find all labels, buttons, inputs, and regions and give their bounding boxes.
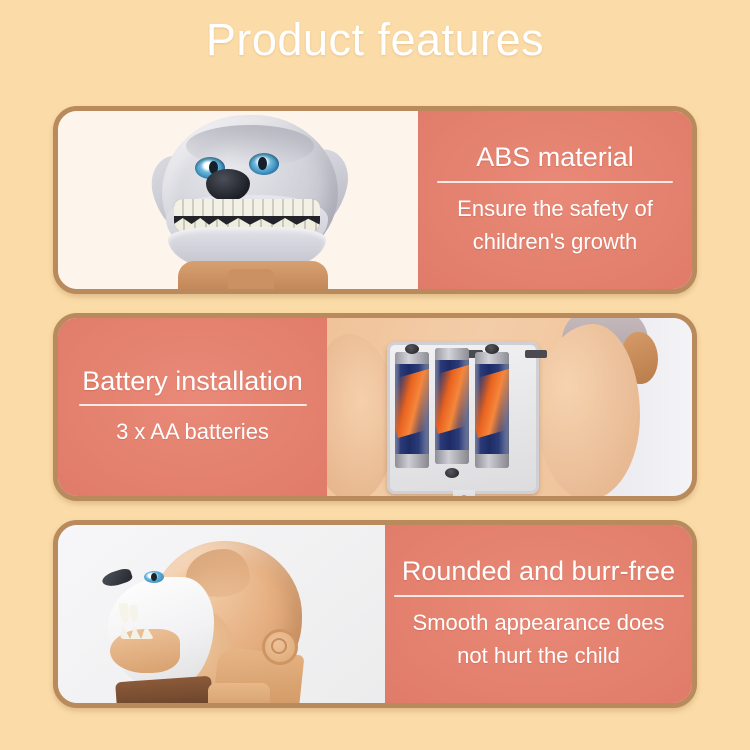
feature-subtitle-line-1: 3 x AA batteries	[116, 415, 269, 448]
toy-foot-shape	[208, 683, 270, 703]
battery-door-screw-shape	[453, 490, 475, 496]
battery-terminal-3	[485, 344, 499, 354]
feature-subtitle-line-2: not hurt the child	[457, 639, 620, 672]
aa-battery-1: SUPER HEAVY DUTY SIZE AA R6 1.5V	[395, 352, 429, 468]
battery-label-text: SUPER HEAVY DUTY SIZE AA R6 1.5V	[395, 397, 429, 425]
battery-label-text: SUPER HEAVY DUTY SIZE AA R6 1.5V	[435, 393, 469, 421]
feature-subtitle-line-1: Ensure the safety of	[457, 192, 653, 225]
feature-subtitle-line-2: children's growth	[473, 225, 637, 258]
feature-text-panel-battery-installation: Battery installation 3 x AA batteries	[58, 318, 327, 496]
dog-nose-shape	[101, 567, 134, 590]
battery-cap-shape	[435, 450, 469, 464]
dog-eye-shape	[144, 571, 164, 583]
feature-heading: Battery installation	[82, 365, 303, 397]
battery-cap-shape	[475, 454, 509, 468]
battery-cap-shape	[395, 454, 429, 468]
battery-door-slot-right	[525, 350, 547, 358]
dog-body-detail-shape	[228, 269, 274, 289]
toy-base-shape	[115, 676, 213, 703]
feature-heading: Rounded and burr-free	[402, 555, 675, 587]
aa-battery-3: SUPER HEAVY DUTY SIZE AA R6 1.5V	[475, 352, 509, 468]
dog-nose-shape	[206, 169, 250, 201]
feature-text-panel-abs-material: ABS material Ensure the safety of childr…	[418, 111, 692, 289]
heading-divider	[394, 595, 684, 597]
grey-bulldog-head-photo	[58, 111, 418, 289]
dog-ear-button-shape	[262, 629, 298, 665]
dog-pupil-right-shape	[258, 157, 267, 170]
feature-card-battery-installation: Battery installation 3 x AA batteries SU…	[53, 313, 697, 501]
feature-subtitle-line-1: Smooth appearance does	[413, 606, 665, 639]
battery-terminal-1	[405, 344, 419, 354]
battery-terminal-2	[445, 468, 459, 478]
heading-divider	[79, 404, 307, 406]
battery-cap-shape	[435, 348, 469, 360]
battery-label-text: SUPER HEAVY DUTY SIZE AA R6 1.5V	[475, 397, 509, 425]
feature-text-panel-rounded-and-burr-free: Rounded and burr-free Smooth appearance …	[385, 525, 692, 703]
dog-upper-teeth-shape	[174, 199, 320, 216]
feature-card-abs-material: ABS material Ensure the safety of childr…	[53, 106, 697, 294]
feature-heading: ABS material	[476, 141, 634, 173]
heading-divider	[437, 181, 673, 183]
aa-battery-2: SUPER HEAVY DUTY SIZE AA R6 1.5V	[435, 348, 469, 464]
tan-dog-profile-photo	[58, 525, 385, 703]
toy-body-right-shape	[536, 324, 640, 496]
page-title: Product features	[0, 14, 750, 66]
battery-compartment-photo: SUPER HEAVY DUTY SIZE AA R6 1.5V SUPER H…	[327, 318, 692, 496]
feature-card-rounded-and-burr-free: Rounded and burr-free Smooth appearance …	[53, 520, 697, 708]
